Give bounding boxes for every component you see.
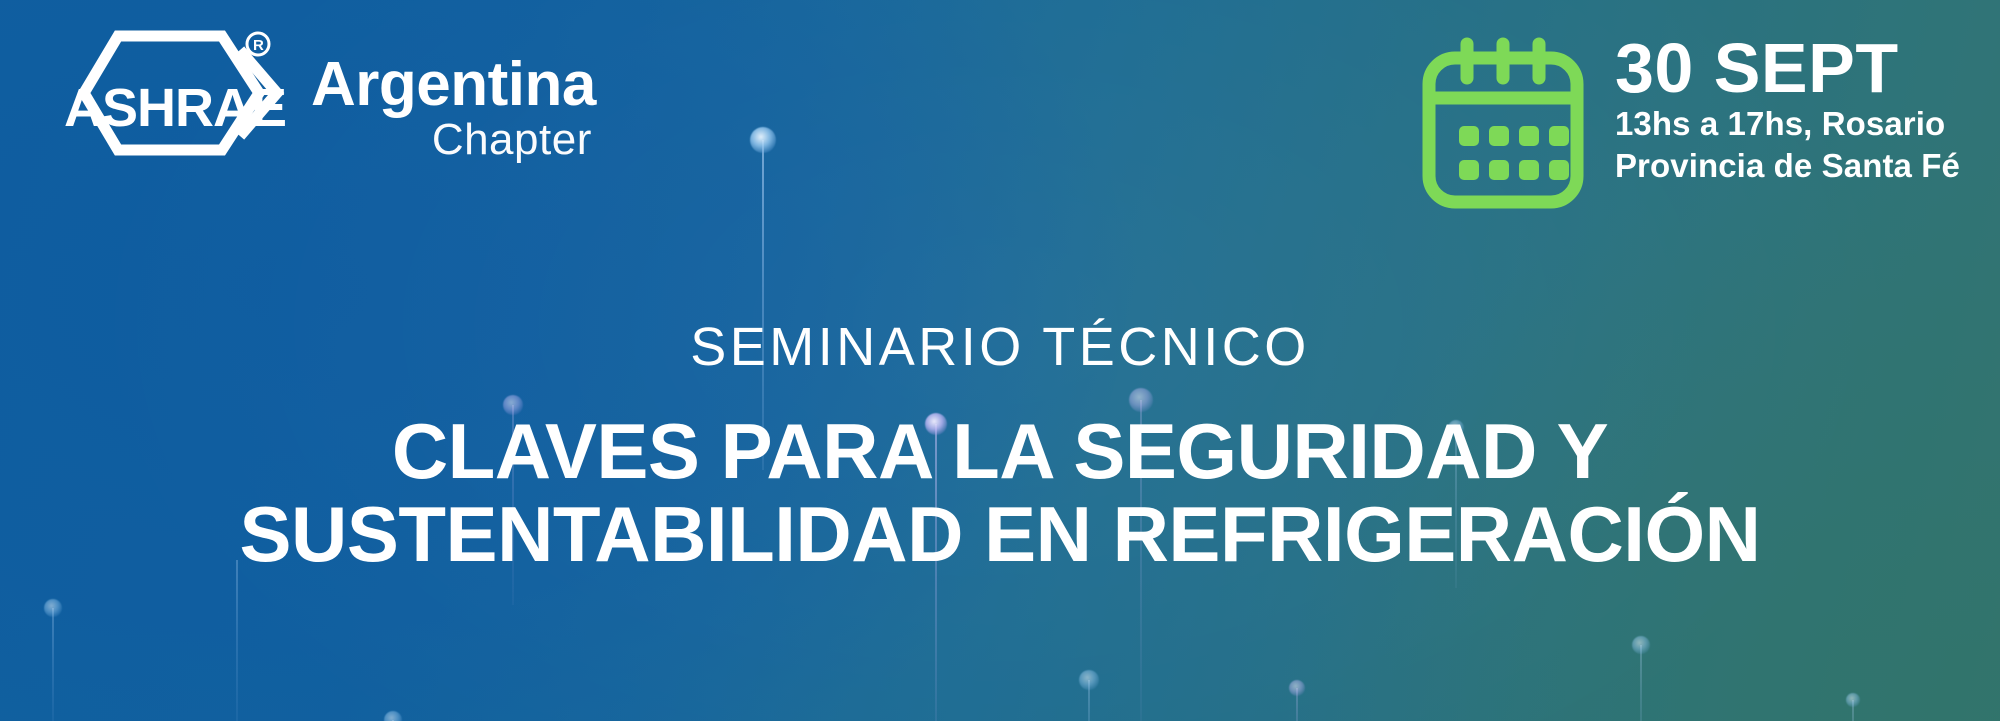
event-date-block: 30 SEPT 13hs a 17hs, Rosario Provincia d… [1419, 30, 1960, 212]
decorative-pin-stem [236, 560, 238, 721]
decorative-pin-stem [1640, 645, 1642, 721]
chapter-word-label: Chapter [311, 118, 592, 162]
event-date: 30 SEPT [1615, 34, 1960, 103]
svg-text:R: R [253, 37, 264, 54]
decorative-pin-head [1289, 680, 1305, 696]
decorative-pin-head [44, 599, 62, 617]
decorative-pin-head [1079, 670, 1099, 690]
banner-main-title-block: SEMINARIO TÉCNICO CLAVES PARA LA SEGURID… [0, 320, 2000, 575]
calendar-icon [1419, 34, 1587, 212]
headline-line-1: CLAVES PARA LA SEGURIDAD Y [40, 410, 1960, 493]
headline-line-2: SUSTENTABILIDAD EN REFRIGERACIÓN [40, 493, 1960, 576]
decorative-pin-stem [52, 608, 54, 721]
banner-top-row: ASHRAE R Argentina Chapter [0, 0, 2000, 240]
seminar-kicker: SEMINARIO TÉCNICO [0, 320, 2000, 374]
ashrae-chapter-wordmark: Argentina Chapter [311, 28, 596, 162]
decorative-pin [1852, 700, 1854, 721]
event-banner: ASHRAE R Argentina Chapter [0, 0, 2000, 721]
event-time-city: 13hs a 17hs, Rosario [1615, 103, 1960, 145]
decorative-pin [236, 560, 238, 721]
decorative-pin [1088, 680, 1090, 721]
decorative-pin-head [1632, 636, 1650, 654]
decorative-pin [52, 608, 54, 721]
decorative-pin-head [384, 711, 402, 721]
event-province: Provincia de Santa Fé [1615, 145, 1960, 187]
ashrae-logo[interactable]: ASHRAE R Argentina Chapter [62, 28, 596, 198]
ashrae-hexagon-chevron-logo-icon: ASHRAE R [62, 28, 317, 198]
chapter-country-label: Argentina [311, 54, 596, 116]
decorative-pin [1296, 688, 1298, 721]
seminar-headline: CLAVES PARA LA SEGURIDAD Y SUSTENTABILID… [0, 410, 2000, 575]
decorative-pin-head [1846, 693, 1860, 707]
event-date-text: 30 SEPT 13hs a 17hs, Rosario Provincia d… [1615, 30, 1960, 187]
decorative-pin [1640, 645, 1642, 721]
